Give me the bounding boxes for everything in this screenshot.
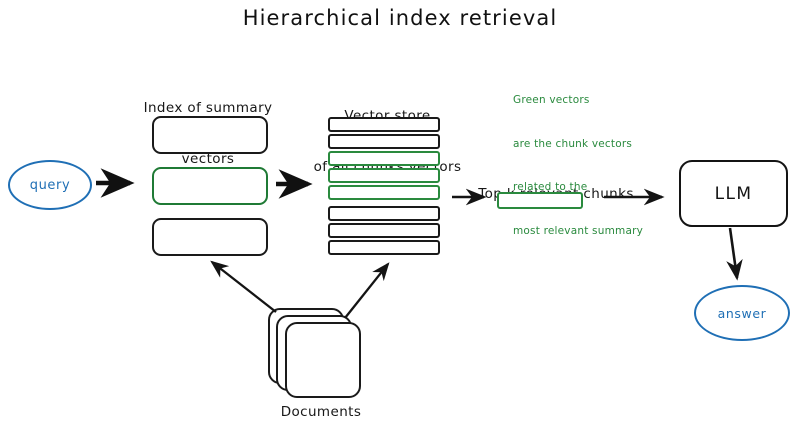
chunk-vector-bar-6[interactable] (328, 206, 440, 221)
llm-node-label: LLM (715, 184, 753, 204)
query-node-label: query (30, 178, 71, 193)
arrow-llm-to-answer (730, 228, 737, 278)
green-annotation-line1: Green vectors (513, 93, 643, 108)
green-vectors-annotation: Green vectors are the chunk vectors rela… (513, 64, 643, 267)
green-annotation-line4: most relevant summary (513, 224, 643, 239)
query-node[interactable]: query (8, 160, 92, 210)
chunk-vector-bar-8[interactable] (328, 240, 440, 255)
diagram-canvas: Hierarchical index retrieval Index of su… (0, 0, 800, 434)
chunk-vector-bar-2[interactable] (328, 134, 440, 149)
documents-label: Documents (246, 404, 396, 420)
chunk-vector-bar-3-highlighted[interactable] (328, 151, 440, 166)
document-card-front[interactable] (285, 322, 361, 398)
answer-node-label: answer (718, 306, 767, 321)
chunk-vector-bar-7[interactable] (328, 223, 440, 238)
arrow-documents-to-store (345, 264, 388, 318)
llm-node[interactable]: LLM (679, 160, 788, 227)
chunk-vector-bar-4-highlighted[interactable] (328, 168, 440, 183)
summary-vector-box-3[interactable] (152, 218, 268, 256)
arrow-documents-to-summary (212, 262, 276, 312)
top-k-chunk-bar-highlighted[interactable] (497, 192, 583, 209)
chunk-vector-bar-5-highlighted[interactable] (328, 185, 440, 200)
caption-summary-index-line1: Index of summary (133, 100, 283, 117)
summary-vector-box-2-highlighted[interactable] (152, 167, 268, 205)
green-annotation-line2: are the chunk vectors (513, 137, 643, 152)
chunk-vector-bar-1[interactable] (328, 117, 440, 132)
page-title: Hierarchical index retrieval (0, 6, 800, 30)
answer-node[interactable]: answer (694, 285, 790, 341)
summary-vector-box-1[interactable] (152, 116, 268, 154)
